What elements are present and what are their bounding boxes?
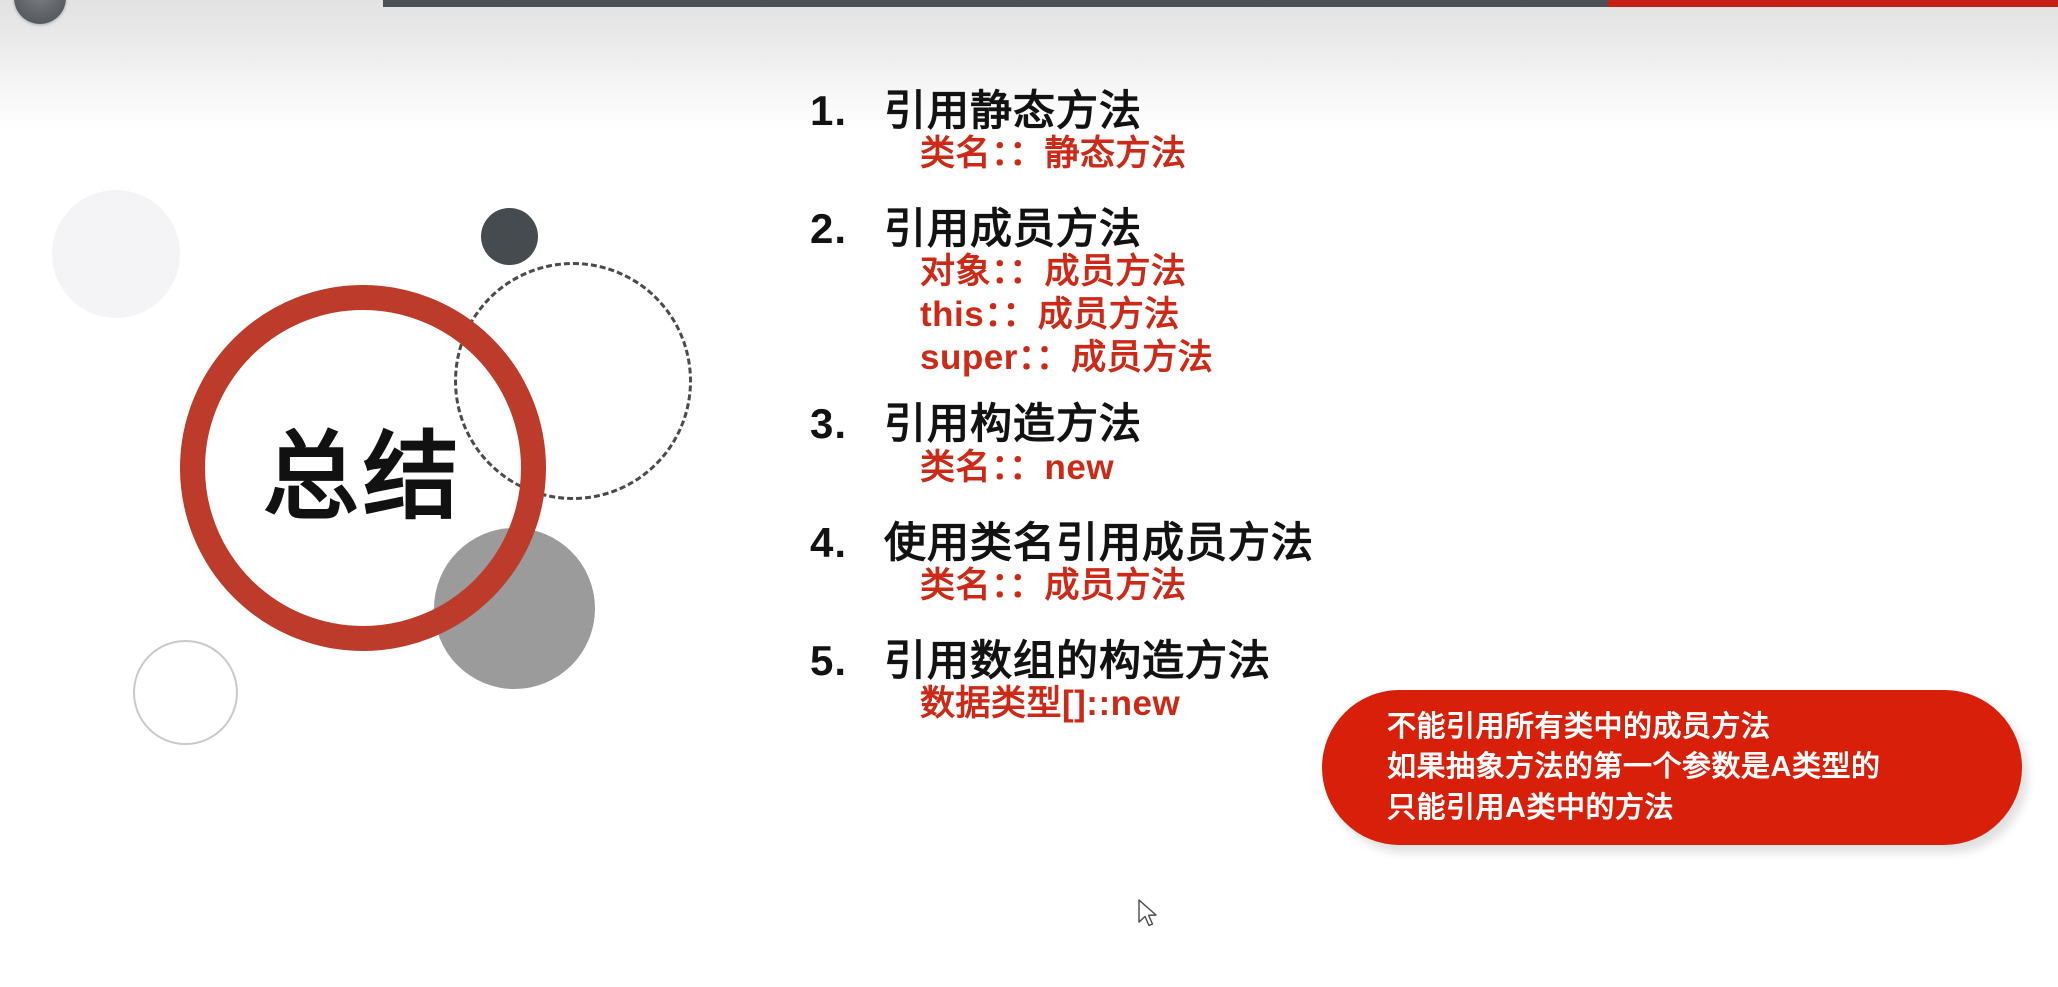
pale-circle-decoration: [52, 190, 180, 318]
list-item-heading: 4. 使用类名引用成员方法: [810, 520, 1810, 565]
list-item: 1. 引用静态方法 类名：：静态方法: [810, 88, 1810, 176]
list-item-number: 5.: [810, 638, 884, 683]
list-item-number: 4.: [810, 520, 884, 565]
list-item: 3. 引用构造方法 类名：：new: [810, 401, 1810, 489]
list-item-title: 引用构造方法: [884, 401, 1142, 446]
list-item-number: 1.: [810, 88, 884, 133]
list-item-detail: 对象：：成员方法: [920, 251, 1810, 294]
list-item-heading: 3. 引用构造方法: [810, 401, 1810, 446]
slide-canvas: 总结 1. 引用静态方法 类名：：静态方法 2. 引用成员方法 对象：：成员方法…: [0, 0, 2058, 987]
bilibili-tv-logo-icon: [1912, 879, 2044, 983]
decorative-circle-cluster: 总结: [0, 0, 760, 987]
list-item-detail: this：：成员方法: [920, 294, 1810, 337]
list-item-heading: 1. 引用静态方法: [810, 88, 1810, 133]
video-progress-played[interactable]: [1608, 0, 2058, 7]
list-item-heading: 2. 引用成员方法: [810, 206, 1810, 251]
callout-text: 不能引用所有类中的成员方法 如果抽象方法的第一个参数是A类型的 只能引用A类中的…: [1387, 707, 1880, 827]
list-item-title: 引用成员方法: [884, 206, 1142, 251]
list-item: 4. 使用类名引用成员方法 类名：：成员方法: [810, 520, 1810, 608]
list-item-number: 2.: [810, 206, 884, 251]
list-item-number: 3.: [810, 401, 884, 446]
spacer: [810, 608, 1810, 638]
list-item-heading: 5. 引用数组的构造方法: [810, 638, 1810, 683]
list-item-detail: 类名：：成员方法: [920, 565, 1810, 608]
summary-title: 总结: [180, 285, 546, 651]
list-item-title: 使用类名引用成员方法: [884, 520, 1314, 565]
spacer: [810, 490, 1810, 520]
spacer: [810, 379, 1810, 401]
list-item-detail: 类名：：静态方法: [920, 133, 1810, 176]
spacer: [810, 176, 1810, 206]
summary-list: 1. 引用静态方法 类名：：静态方法 2. 引用成员方法 对象：：成员方法 th…: [810, 88, 1810, 726]
red-callout-box: 不能引用所有类中的成员方法 如果抽象方法的第一个参数是A类型的 只能引用A类中的…: [1322, 690, 2022, 845]
list-item-detail: 类名：：new: [920, 447, 1810, 490]
list-item: 2. 引用成员方法 对象：：成员方法 this：：成员方法 super：：成员方…: [810, 206, 1810, 379]
dark-dot-decoration: [481, 208, 538, 265]
list-item-title: 引用静态方法: [884, 88, 1142, 133]
outline-circle-decoration: [133, 640, 238, 745]
list-item-title: 引用数组的构造方法: [884, 638, 1271, 683]
list-item-detail: super：：成员方法: [920, 337, 1810, 380]
mouse-cursor: [1136, 898, 1160, 930]
